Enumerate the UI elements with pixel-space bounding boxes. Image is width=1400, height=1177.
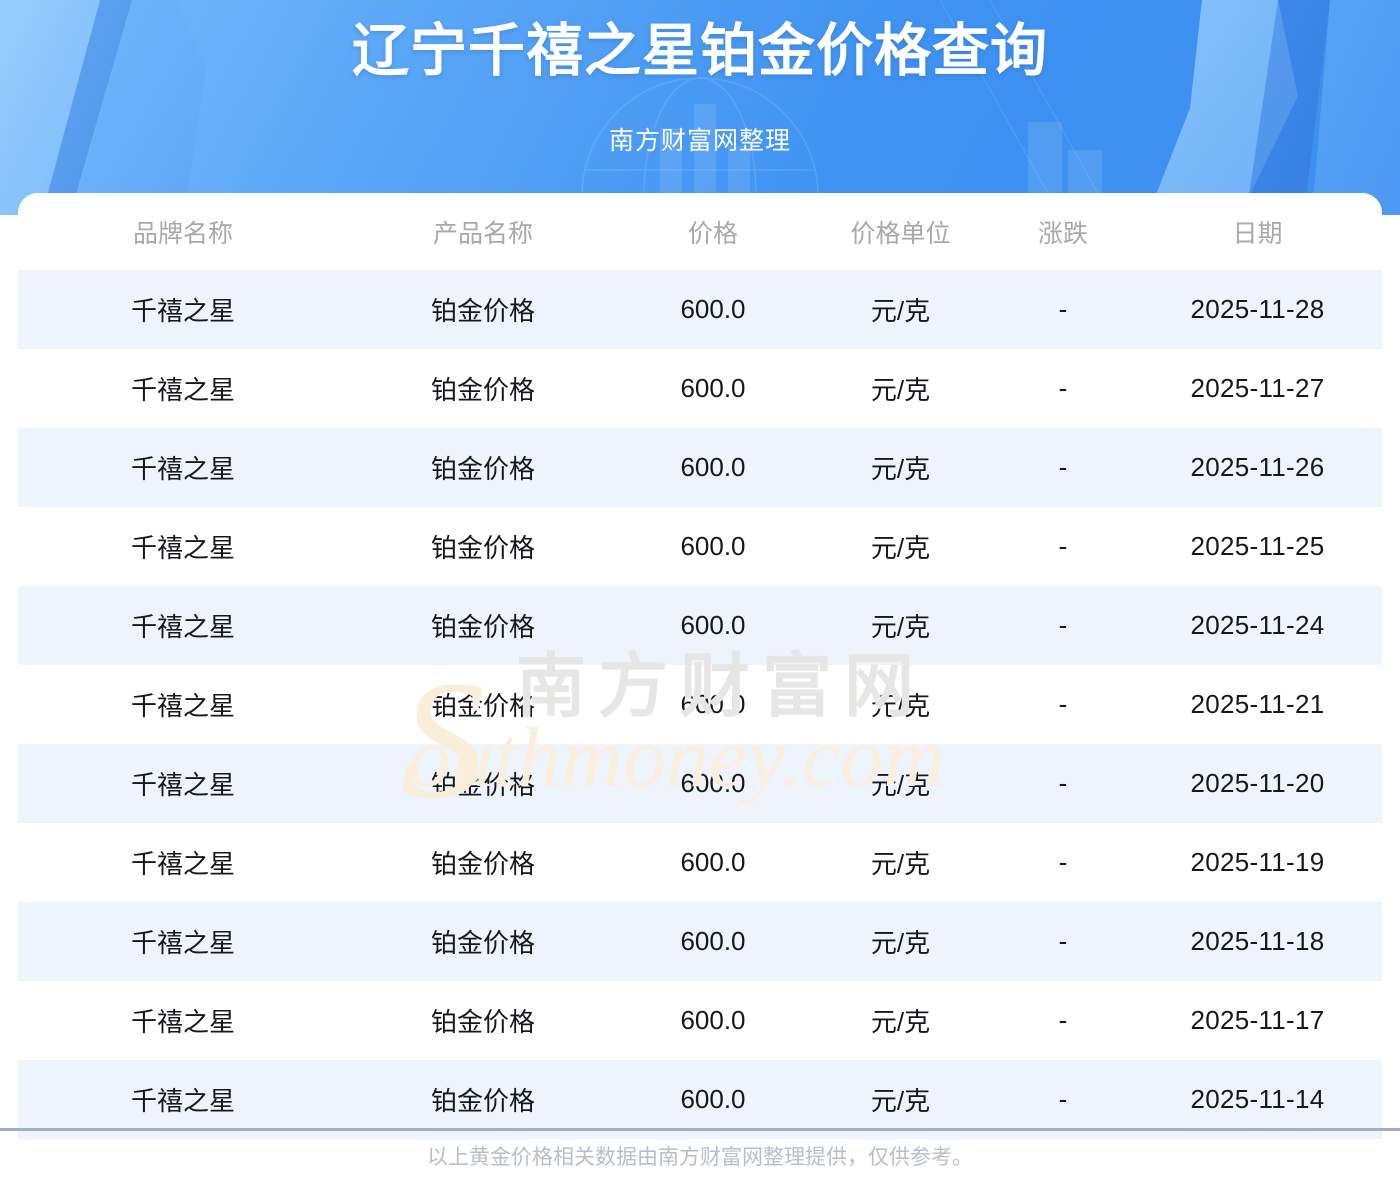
cell-brand: 千禧之星 (18, 270, 348, 349)
cell-brand: 千禧之星 (18, 665, 348, 744)
cell-unit: 元/克 (808, 270, 993, 349)
cell-date: 2025-11-28 (1133, 270, 1382, 349)
cell-date: 2025-11-20 (1133, 744, 1382, 823)
table-row: 千禧之星铂金价格600.0元/克-2025-11-25 (18, 507, 1382, 586)
column-header-change: 涨跌 (993, 193, 1133, 270)
page-title: 辽宁千禧之星铂金价格查询 (0, 14, 1400, 88)
cell-unit: 元/克 (808, 507, 993, 586)
cell-date: 2025-11-19 (1133, 823, 1382, 902)
cell-product: 铂金价格 (348, 823, 618, 902)
cell-price: 600.0 (618, 349, 808, 428)
cell-product: 铂金价格 (348, 981, 618, 1060)
cell-unit: 元/克 (808, 665, 993, 744)
cell-brand: 千禧之星 (18, 981, 348, 1060)
cell-change: - (993, 270, 1133, 349)
cell-brand: 千禧之星 (18, 586, 348, 665)
cell-date: 2025-11-25 (1133, 507, 1382, 586)
table-row: 千禧之星铂金价格600.0元/克-2025-11-19 (18, 823, 1382, 902)
page-banner: 辽宁千禧之星铂金价格查询 南方财富网整理 (0, 0, 1400, 215)
cell-change: - (993, 428, 1133, 507)
cell-brand: 千禧之星 (18, 744, 348, 823)
cell-price: 600.0 (618, 270, 808, 349)
column-header-date: 日期 (1133, 193, 1382, 270)
cell-change: - (993, 981, 1133, 1060)
table-row: 千禧之星铂金价格600.0元/克-2025-11-24 (18, 586, 1382, 665)
footer-disclaimer: 以上黄金价格相关数据由南方财富网整理提供，仅供参考。 (0, 1143, 1400, 1173)
banner-subtitle: 南方财富网整理 (0, 124, 1400, 158)
cell-unit: 元/克 (808, 428, 993, 507)
cell-date: 2025-11-21 (1133, 665, 1382, 744)
cell-change: - (993, 744, 1133, 823)
table-row: 千禧之星铂金价格600.0元/克-2025-11-26 (18, 428, 1382, 507)
cell-product: 铂金价格 (348, 744, 618, 823)
cell-unit: 元/克 (808, 349, 993, 428)
cell-product: 铂金价格 (348, 349, 618, 428)
table-row: 千禧之星铂金价格600.0元/克-2025-11-27 (18, 349, 1382, 428)
column-header-product: 产品名称 (348, 193, 618, 270)
cell-price: 600.0 (618, 902, 808, 981)
cell-date: 2025-11-17 (1133, 981, 1382, 1060)
cell-product: 铂金价格 (348, 902, 618, 981)
table-head: 品牌名称 产品名称 价格 价格单位 涨跌 日期 (18, 193, 1382, 270)
cell-unit: 元/克 (808, 981, 993, 1060)
page-root: 辽宁千禧之星铂金价格查询 南方财富网整理 品牌名称 产品名称 价格 价格单位 涨… (0, 0, 1400, 1177)
cell-brand: 千禧之星 (18, 428, 348, 507)
cell-price: 600.0 (618, 665, 808, 744)
cell-date: 2025-11-27 (1133, 349, 1382, 428)
column-header-price: 价格 (618, 193, 808, 270)
footer-divider (0, 1128, 1400, 1131)
table-row: 千禧之星铂金价格600.0元/克-2025-11-17 (18, 981, 1382, 1060)
cell-brand: 千禧之星 (18, 349, 348, 428)
cell-unit: 元/克 (808, 586, 993, 665)
table-row: 千禧之星铂金价格600.0元/克-2025-11-21 (18, 665, 1382, 744)
cell-change: - (993, 586, 1133, 665)
cell-price: 600.0 (618, 823, 808, 902)
cell-change: - (993, 823, 1133, 902)
cell-date: 2025-11-26 (1133, 428, 1382, 507)
cell-unit: 元/克 (808, 823, 993, 902)
table-row: 千禧之星铂金价格600.0元/克-2025-11-18 (18, 902, 1382, 981)
table-row: 千禧之星铂金价格600.0元/克-2025-11-20 (18, 744, 1382, 823)
cell-unit: 元/克 (808, 902, 993, 981)
cell-unit: 元/克 (808, 744, 993, 823)
cell-product: 铂金价格 (348, 428, 618, 507)
table-row: 千禧之星铂金价格600.0元/克-2025-11-28 (18, 270, 1382, 349)
cell-brand: 千禧之星 (18, 823, 348, 902)
cell-price: 600.0 (618, 428, 808, 507)
cell-change: - (993, 665, 1133, 744)
cell-change: - (993, 349, 1133, 428)
column-header-unit: 价格单位 (808, 193, 993, 270)
cell-product: 铂金价格 (348, 507, 618, 586)
price-table-card: 品牌名称 产品名称 价格 价格单位 涨跌 日期 千禧之星铂金价格600.0元/克… (18, 193, 1382, 1139)
cell-price: 600.0 (618, 744, 808, 823)
cell-price: 600.0 (618, 586, 808, 665)
cell-product: 铂金价格 (348, 665, 618, 744)
cell-price: 600.0 (618, 507, 808, 586)
cell-price: 600.0 (618, 981, 808, 1060)
cell-product: 铂金价格 (348, 586, 618, 665)
cell-change: - (993, 507, 1133, 586)
cell-brand: 千禧之星 (18, 902, 348, 981)
table-body: 千禧之星铂金价格600.0元/克-2025-11-28千禧之星铂金价格600.0… (18, 270, 1382, 1139)
cell-brand: 千禧之星 (18, 507, 348, 586)
cell-date: 2025-11-18 (1133, 902, 1382, 981)
table-header-row: 品牌名称 产品名称 价格 价格单位 涨跌 日期 (18, 193, 1382, 270)
cell-date: 2025-11-24 (1133, 586, 1382, 665)
cell-change: - (993, 902, 1133, 981)
column-header-brand: 品牌名称 (18, 193, 348, 270)
cell-product: 铂金价格 (348, 270, 618, 349)
platinum-price-table: 品牌名称 产品名称 价格 价格单位 涨跌 日期 千禧之星铂金价格600.0元/克… (18, 193, 1382, 1139)
